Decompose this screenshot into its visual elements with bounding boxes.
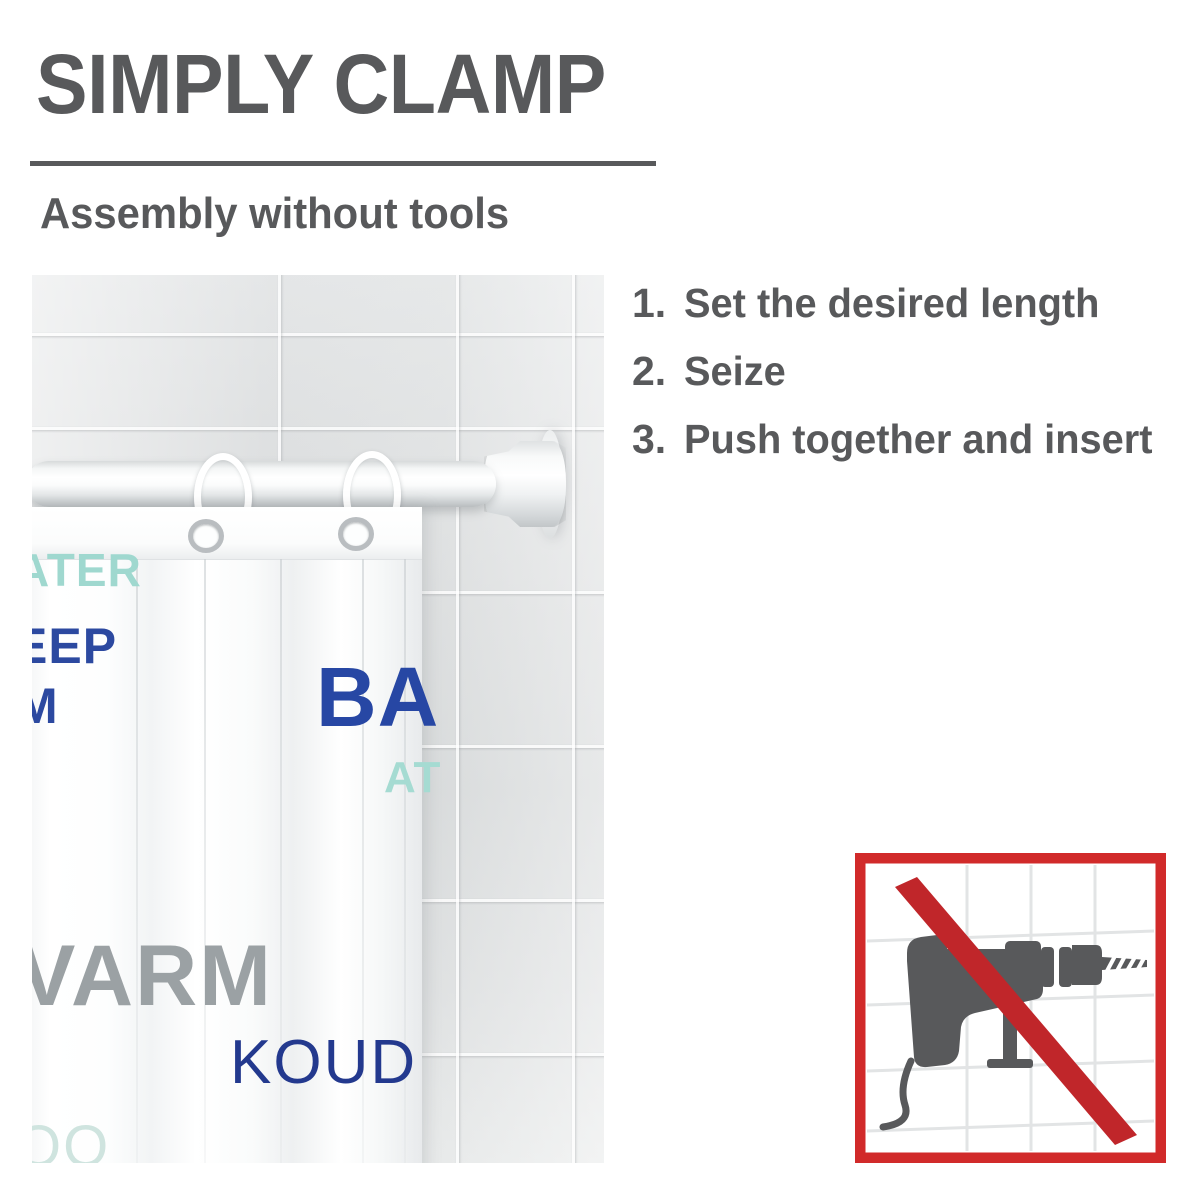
grout-line-vertical [572, 275, 575, 1163]
assembly-step-3: 3. Push together and insert [632, 408, 1172, 470]
page-subtitle: Assembly without tools [40, 190, 509, 238]
curtain-grommet [188, 519, 224, 553]
grout-line-horizontal [32, 427, 604, 430]
step-number: 3. [632, 408, 684, 470]
product-photo: ATER EEP M BA AT VARM KOUD OO [32, 275, 604, 1163]
page-title: SIMPLY CLAMP [36, 42, 606, 126]
curtain-print-at: AT [384, 753, 441, 803]
shower-curtain-rod [32, 461, 496, 507]
assembly-steps-list: 1. Set the desired length 2. Seize 3. Pu… [632, 272, 1172, 476]
curtain-print-koud: KOUD [230, 1027, 417, 1098]
curtain-grommet [338, 517, 374, 551]
assembly-step-1: 1. Set the desired length [632, 272, 1172, 334]
grout-line-vertical [456, 275, 459, 1163]
curtain-print-warm: VARM [32, 927, 273, 1026]
assembly-step-2: 2. Seize [632, 340, 1172, 402]
no-drilling-icon [855, 853, 1166, 1163]
step-number: 1. [632, 272, 684, 334]
step-number: 2. [632, 340, 684, 402]
title-divider-rule [30, 161, 656, 166]
curtain-print-m: M [32, 677, 59, 735]
step-label: Seize [684, 340, 1157, 402]
curtain-print-water: ATER [32, 543, 142, 597]
curtain-print-keep: EEP [32, 617, 117, 675]
curtain-fold [204, 559, 206, 1163]
curtain-print-oo: OO [32, 1113, 110, 1163]
step-label: Set the desired length [684, 272, 1157, 334]
curtain-print-ba: BA [316, 649, 439, 746]
grout-line-horizontal [32, 333, 604, 336]
step-label: Push together and insert [684, 408, 1157, 470]
curtain-fold [136, 559, 138, 1163]
